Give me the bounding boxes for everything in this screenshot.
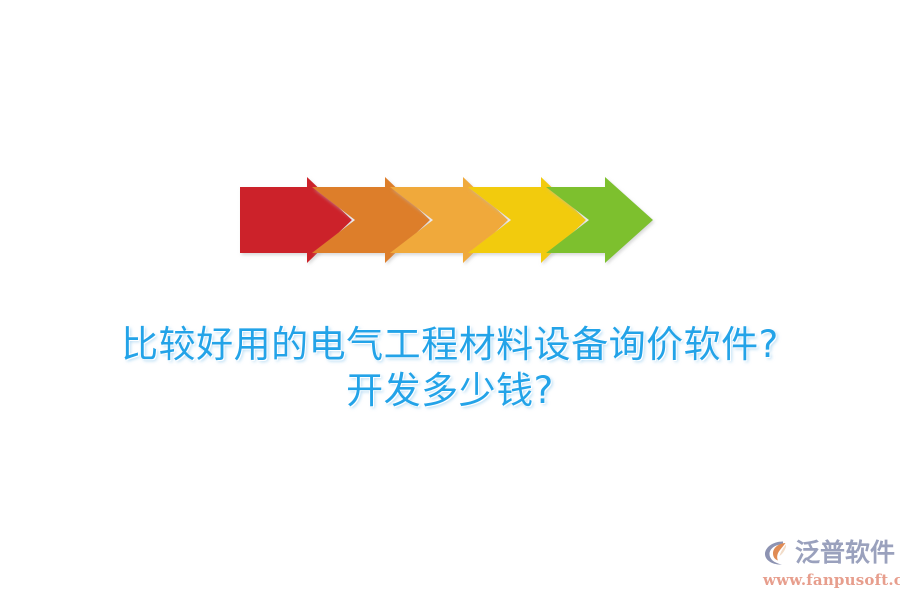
headline-line-2: 开发多少钱? <box>0 368 900 414</box>
logo-row: 泛普软件 <box>762 536 894 570</box>
logo-watermark: 泛普软件 www.fanpusoft.com <box>762 536 894 592</box>
headline: 比较好用的电气工程材料设备询价软件? 开发多少钱? <box>0 322 900 414</box>
five-step-chevron-arrow <box>225 165 675 280</box>
fanpu-logo-icon <box>762 538 792 568</box>
logo-company-name: 泛普软件 <box>795 538 895 568</box>
headline-line-1: 比较好用的电气工程材料设备询价软件? <box>0 322 900 368</box>
page-canvas: 比较好用的电气工程材料设备询价软件? 开发多少钱? 泛普软件 www.fanpu… <box>0 0 900 600</box>
logo-url: www.fanpusoft.com <box>763 571 894 589</box>
